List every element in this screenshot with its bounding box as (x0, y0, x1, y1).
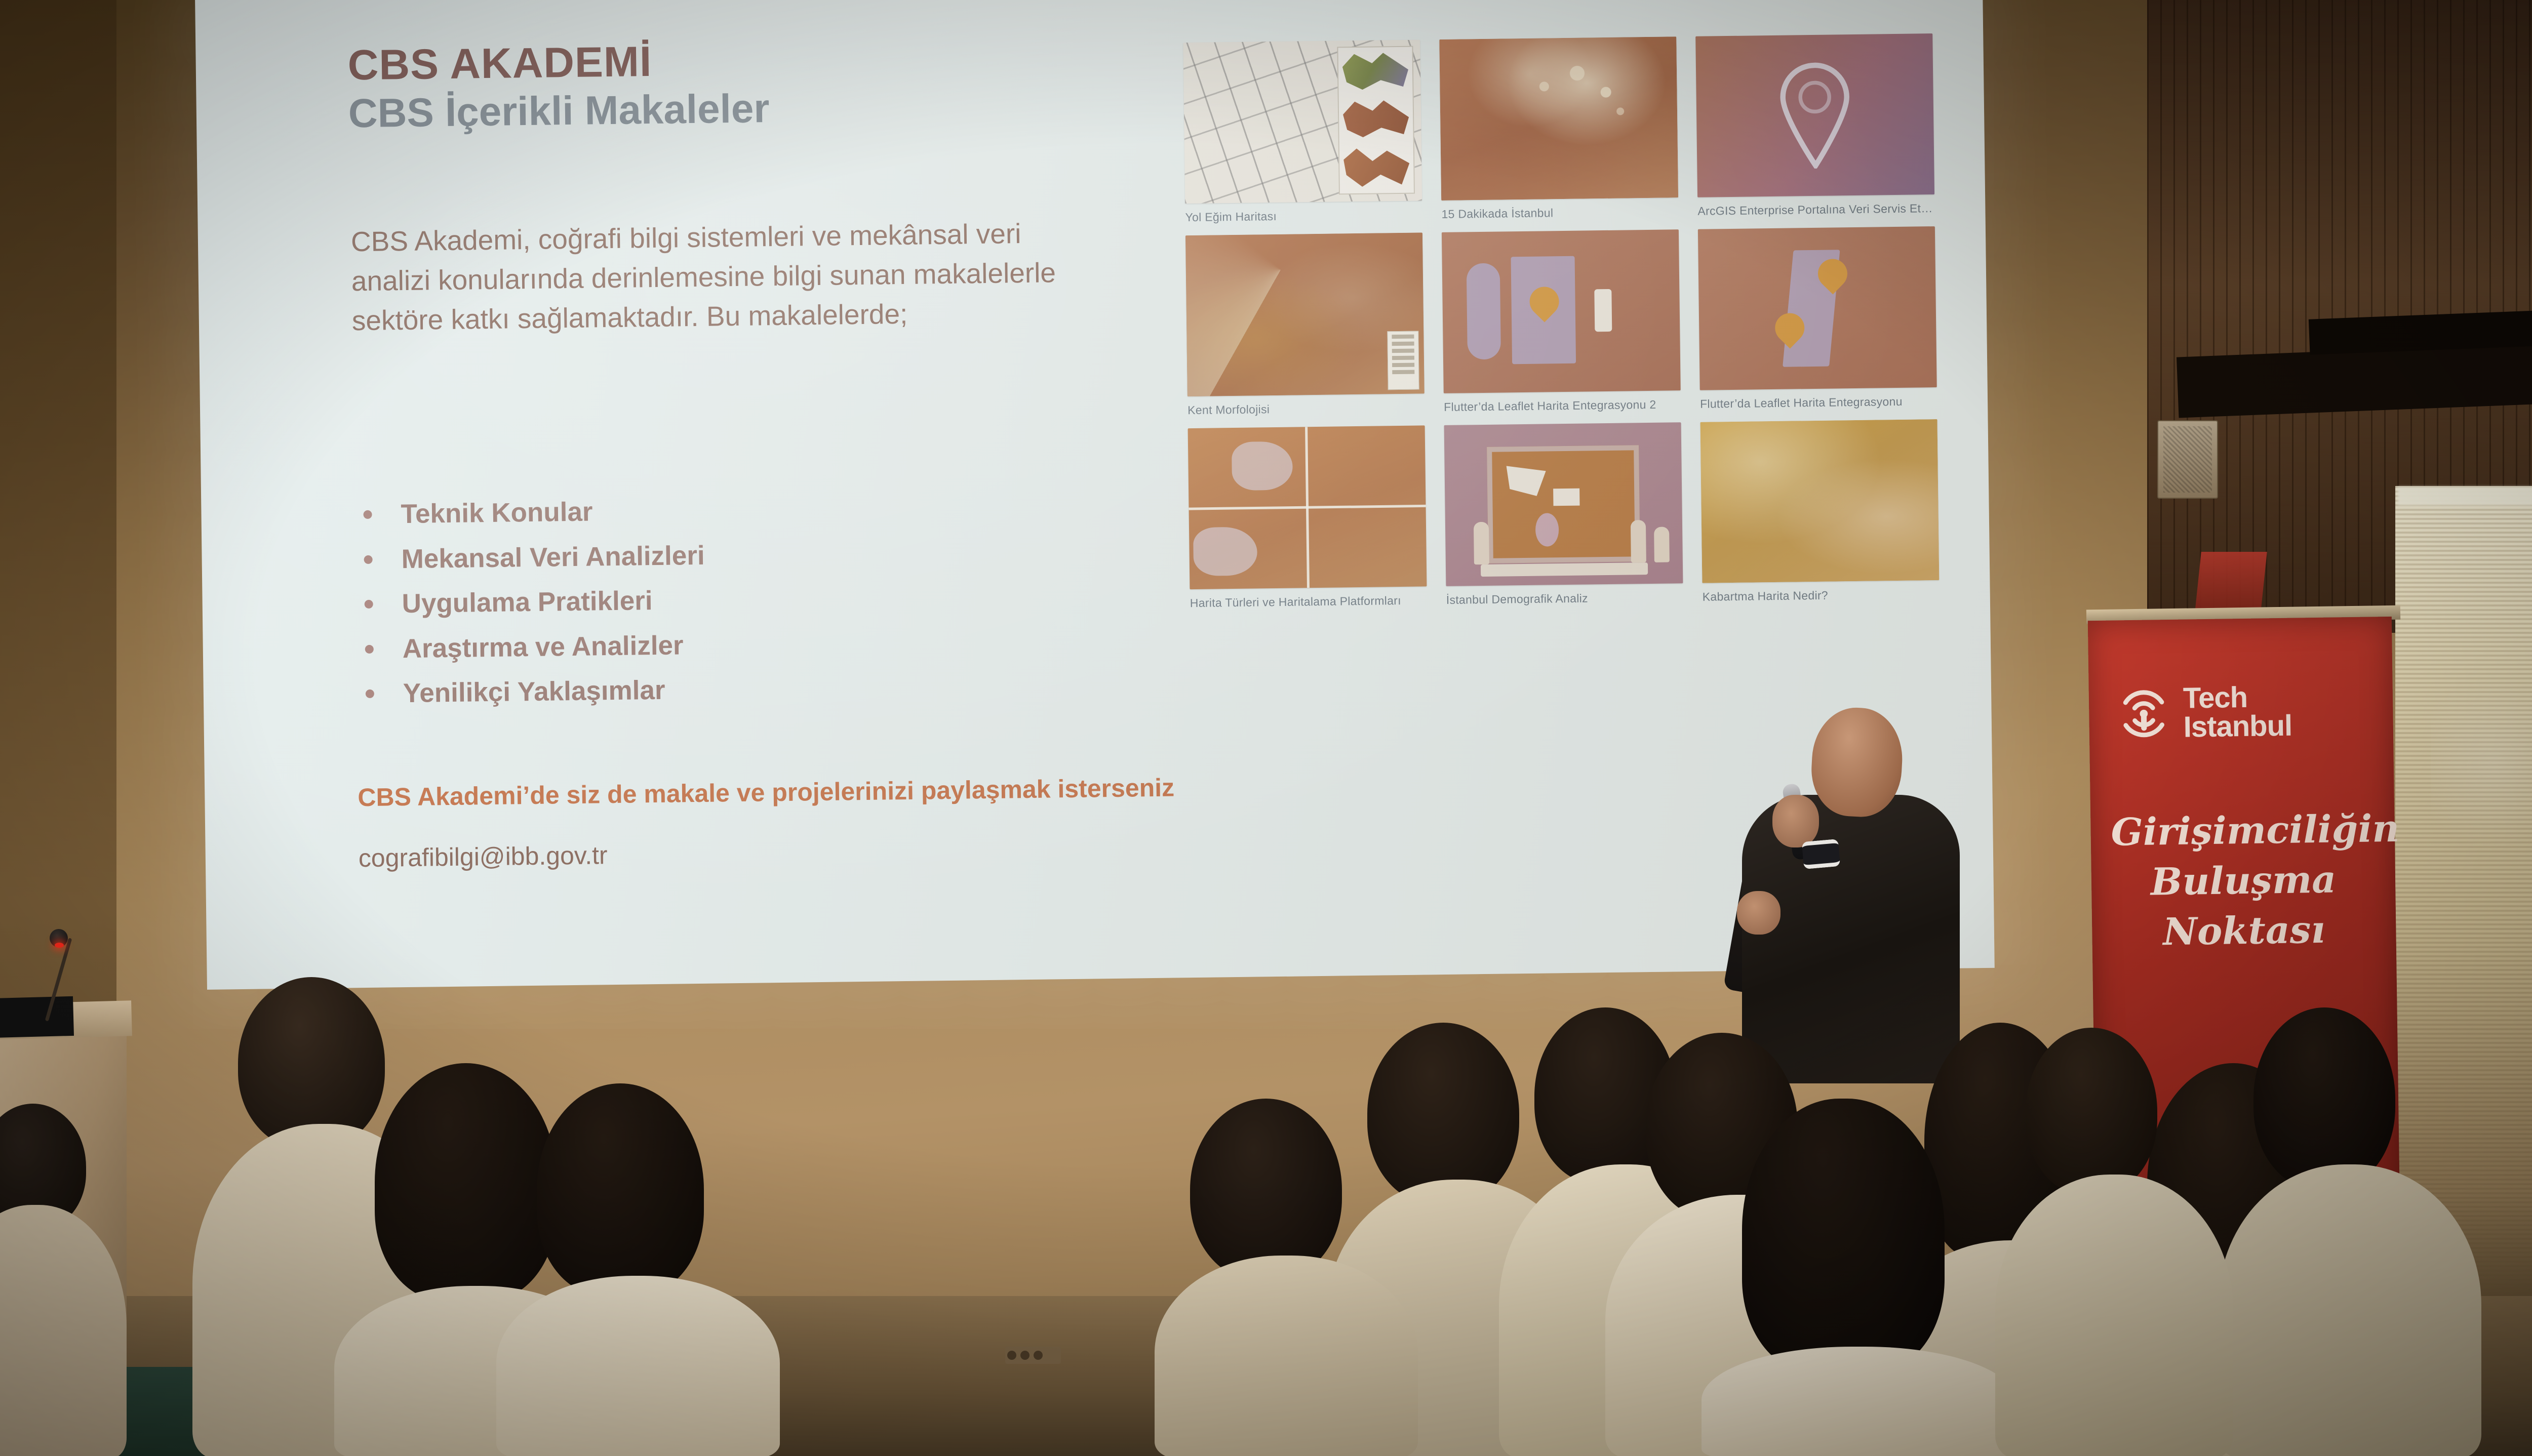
board-stand (1481, 562, 1648, 577)
brand-line-2: Istanbul (2183, 709, 2292, 743)
thumbnail-cell: 15 Dakikada İstanbul (1439, 36, 1678, 221)
list-item: Yenilikçi Yaklaşımlar (357, 670, 1066, 710)
projection-screen: CBS AKADEMİ CBS İçerikli Makaleler CBS A… (195, 0, 1995, 990)
thumbnail-caption: 15 Dakikada İstanbul (1441, 205, 1678, 221)
tagline-line-3: Noktası (2112, 905, 2376, 958)
thumbnail-cell: Yol Eğim Haritası (1183, 39, 1422, 224)
thumbnail-image-demographic (1444, 422, 1683, 586)
list-item-label: Yenilikçi Yaklaşımlar (403, 675, 665, 708)
list-item-label: Araştırma ve Analizler (402, 630, 683, 664)
thumbnail-cell: Kabartma Harita Nedir? (1700, 419, 1940, 604)
wall-outlet (1005, 1347, 1061, 1364)
speaker-hand (1772, 795, 1819, 847)
tagline-line-2: Buluşma (2111, 855, 2375, 908)
thumbnail-image-leaflet-2 (1442, 229, 1681, 393)
thumbnail-caption: Yol Eğim Haritası (1185, 208, 1422, 224)
wall-speaker (2157, 420, 2218, 499)
banner-tagline: Girişimciliğin Buluşma Noktası (2111, 804, 2376, 958)
thumbnail-cell: Flutter’da Leaflet Harita Entegrasyonu (1698, 226, 1937, 411)
smartwatch (1802, 839, 1840, 869)
presentation-board (1487, 445, 1640, 563)
thumbnail-row: Kent Morfolojisi Flutter’da Leaflet Hari… (1185, 226, 1937, 417)
map-pin-icon (1776, 62, 1854, 169)
thumbnail-image-satellite (1439, 36, 1678, 200)
thumbnail-cell: ArcGIS Enterprise Portalına Veri Servis … (1695, 33, 1934, 218)
door-glass-pattern (2431, 678, 2532, 891)
presentation-room-photo: CBS AKADEMİ CBS İçerikli Makaleler CBS A… (0, 0, 2532, 1456)
speaker-hand-left (1737, 891, 1781, 935)
thumbnail-caption: Kabartma Harita Nedir? (1703, 587, 1940, 604)
thumbnail-image-crosshair-map (1188, 425, 1427, 589)
bullet-dot-icon (364, 555, 373, 563)
thumbnail-caption: ArcGIS Enterprise Portalına Veri Servis … (1697, 201, 1934, 218)
door-light-strip (2398, 487, 2532, 505)
thumbnail-cell: İstanbul Demografik Analiz (1444, 422, 1683, 607)
thumbnail-caption: Harita Türleri ve Haritalama Platformlar… (1190, 593, 1427, 610)
article-thumbnail-grid: Yol Eğim Haritası 15 Dakikada İstanbul (1183, 33, 1940, 621)
call-to-action-text: CBS Akademi’de siz de makale ve projeler… (358, 769, 1523, 812)
thumbnail-cell: Flutter’da Leaflet Harita Entegrasyonu 2 (1442, 229, 1681, 414)
thumbnail-cell: Harita Türleri ve Haritalama Platformlar… (1188, 425, 1427, 610)
slide-title-block: CBS AKADEMİ CBS İçerikli Makaleler (347, 38, 770, 135)
list-item: Uygulama Pratikleri (355, 580, 1064, 621)
thumbnail-row: Harita Türleri ve Haritalama Platformlar… (1188, 419, 1940, 610)
tech-istanbul-logo-icon (2115, 685, 2173, 743)
microphone-led-indicator (55, 943, 64, 948)
thumbnail-cell: Kent Morfolojisi (1185, 232, 1425, 417)
contact-email: cografibilgi@ibb.gov.tr (359, 840, 608, 873)
brand-logo: Tech Istanbul (2115, 683, 2292, 743)
thumbnail-image-leaflet-1 (1698, 226, 1937, 390)
list-item: Teknik Konular (354, 491, 1063, 531)
slide-bullet-list: Teknik Konular Mekansal Veri Analizleri … (354, 491, 1065, 723)
map-legend-strip (1337, 46, 1415, 195)
thumbnail-image-morphology (1185, 232, 1425, 396)
bullet-dot-icon (365, 600, 373, 609)
list-item-label: Mekansal Veri Analizleri (401, 540, 705, 574)
bullet-dot-icon (363, 510, 372, 519)
bullet-dot-icon (366, 690, 374, 698)
tagline-line-1: Girişimciliğin (2111, 804, 2375, 858)
thumbnail-caption: Flutter’da Leaflet Harita Entegrasyonu 2 (1444, 397, 1681, 414)
map-legend-box (1387, 331, 1419, 390)
slide-paragraph: CBS Akademi, coğrafi bilgi sistemleri ve… (350, 213, 1071, 341)
slide-content: CBS AKADEMİ CBS İçerikli Makaleler CBS A… (195, 0, 1995, 990)
lectern-monitor (0, 996, 74, 1038)
list-item: Araştırma ve Analizler (355, 625, 1065, 666)
bullet-dot-icon (365, 644, 374, 653)
list-item-label: Teknik Konular (401, 497, 593, 529)
list-item-label: Uygulama Pratikleri (402, 586, 653, 619)
list-item: Mekansal Veri Analizleri (354, 536, 1064, 576)
thumbnail-image-relief-map (1700, 419, 1940, 583)
brand-name: Tech Istanbul (2183, 683, 2292, 742)
thumbnail-caption: Kent Morfolojisi (1188, 400, 1425, 417)
thumbnail-image-map-pin (1695, 33, 1934, 197)
speaker-torso (1742, 795, 1960, 1083)
thumbnail-image-street-map (1183, 39, 1422, 204)
thumbnail-caption: İstanbul Demografik Analiz (1446, 590, 1683, 607)
page-subtitle: CBS İçerikli Makaleler (348, 87, 770, 135)
thumbnail-caption: Flutter’da Leaflet Harita Entegrasyonu (1700, 394, 1937, 411)
page-title: CBS AKADEMİ (347, 38, 769, 87)
thumbnail-row: Yol Eğim Haritası 15 Dakikada İstanbul (1183, 33, 1934, 224)
